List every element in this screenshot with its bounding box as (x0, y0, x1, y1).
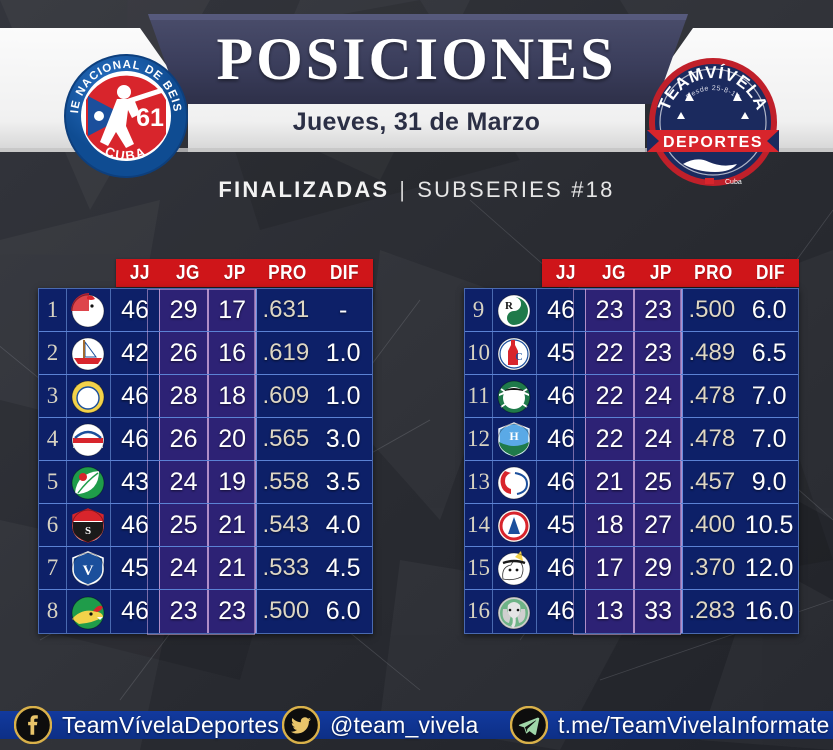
cell-pro: .609 (256, 375, 314, 417)
table-row[interactable]: 10 C 45 22 23 .489 6.5 (465, 332, 798, 375)
cell-jg: 23 (159, 590, 208, 633)
table-row[interactable]: 15 46 17 29 .370 12.0 (465, 547, 798, 590)
team-crest-cell: S (67, 504, 111, 546)
cell-pro: .500 (256, 590, 314, 633)
table-row[interactable]: 6 S 46 25 21 .543 4.0 (39, 504, 372, 547)
team-crest-cell (493, 547, 537, 589)
subseries-label: SUBSERIES #18 (417, 177, 614, 202)
status-label: FINALIZADAS (218, 177, 389, 202)
row-position: 4 (39, 418, 67, 460)
cell-jg: 29 (159, 289, 208, 331)
ciego-de-avila-logo (69, 593, 107, 631)
cell-jp: 18 (208, 375, 257, 417)
row-position: 7 (39, 547, 67, 589)
cell-jp: 24 (634, 418, 683, 460)
pinar-del-rio-logo (69, 463, 107, 501)
cienfuegos-logo: C (495, 334, 533, 372)
cell-jg: 21 (585, 461, 634, 503)
cell-pro: .478 (682, 418, 740, 460)
facebook-handle: TeamVívelaDeportes (62, 712, 279, 739)
cell-jp: 19 (208, 461, 257, 503)
cell-jg: 24 (159, 461, 208, 503)
cell-jj: 45 (537, 332, 585, 374)
cell-jp: 23 (634, 289, 683, 331)
social-link-telegram[interactable]: t.me/TeamVivelaInformate (510, 700, 830, 750)
cell-jg: 22 (585, 418, 634, 460)
svg-text:V: V (83, 563, 94, 579)
table-row[interactable]: 2 42 26 16 .619 1.0 (39, 332, 372, 375)
cell-jj: 46 (537, 289, 585, 331)
cell-jp: 16 (208, 332, 257, 374)
standings-grid-right: 9 R 46 23 23 .500 6.010 C (464, 288, 799, 634)
cell-dif: 4.5 (314, 547, 372, 589)
team-crest-cell (493, 504, 537, 546)
table-row[interactable]: 9 R 46 23 23 .500 6.0 (465, 289, 798, 332)
cell-jp: 17 (208, 289, 257, 331)
header: POSICIONES Jueves, 31 de Marzo 61 SERIE … (0, 0, 833, 165)
telegram-icon[interactable] (510, 706, 548, 744)
cell-dif: 7.0 (740, 375, 798, 417)
cell-jg: 22 (585, 375, 634, 417)
villa-clara-logo: V (69, 549, 107, 587)
cell-jp: 23 (634, 332, 683, 374)
cell-dif: 1.0 (314, 332, 372, 374)
cell-pro: .533 (256, 547, 314, 589)
svg-text:H: H (510, 429, 520, 443)
facebook-icon[interactable] (14, 706, 52, 744)
cell-jp: 21 (208, 547, 257, 589)
col-header-dif: DIF (746, 262, 795, 285)
subtitle-separator: | (399, 177, 407, 202)
serie-nacional-beisbol-logo: 61 SERIE NACIONAL DE BEISBOL CUBA (62, 52, 190, 180)
cell-pro: .558 (256, 461, 314, 503)
cell-dif: 7.0 (740, 418, 798, 460)
cell-dif: 9.0 (740, 461, 798, 503)
row-position: 6 (39, 504, 67, 546)
team-crest-cell (493, 590, 537, 633)
social-link-twitter[interactable]: @team_vivela (282, 700, 478, 750)
table-row[interactable]: 5 43 24 19 .558 3.5 (39, 461, 372, 504)
row-position: 14 (465, 504, 493, 546)
artemisa-logo: R (495, 291, 533, 329)
row-position: 5 (39, 461, 67, 503)
table-row[interactable]: 12 H 46 22 24 .478 7.0 (465, 418, 798, 461)
team-crest-cell (67, 332, 111, 374)
svg-text:R: R (505, 300, 514, 312)
svg-text:S: S (85, 525, 91, 537)
cell-jg: 25 (159, 504, 208, 546)
mayabeque-logo (495, 506, 533, 544)
col-header-jp: JP (641, 262, 682, 285)
matanzas-logo (69, 420, 107, 458)
cell-jj: 46 (111, 289, 159, 331)
row-position: 9 (465, 289, 493, 331)
cell-dif: 6.5 (740, 332, 798, 374)
logo-ribbon-label: DEPORTES (663, 134, 763, 151)
row-position: 3 (39, 375, 67, 417)
cell-pro: .619 (256, 332, 314, 374)
cell-dif: 6.0 (740, 289, 798, 331)
row-position: 12 (465, 418, 493, 460)
column-header-row-right: JJ JG JP PRO DIF (542, 259, 799, 287)
row-position: 2 (39, 332, 67, 374)
cell-jg: 23 (585, 289, 634, 331)
table-row[interactable]: 1 46 29 17 .631 - (39, 289, 372, 332)
cell-pro: .400 (682, 504, 740, 546)
row-position: 1 (39, 289, 67, 331)
team-crest-cell (67, 289, 111, 331)
col-header-jp: JP (215, 262, 256, 285)
standings-grid-left: 1 46 29 17 .631 -2 (38, 288, 373, 634)
row-position: 15 (465, 547, 493, 589)
cell-dif: - (314, 289, 372, 331)
twitter-handle: @team_vivela (330, 712, 478, 739)
santiago-de-cuba-logo: S (69, 506, 107, 544)
guantanamo-logo (495, 593, 533, 631)
cell-jj: 45 (537, 504, 585, 546)
cell-pro: .489 (682, 332, 740, 374)
cell-dif: 4.0 (314, 504, 372, 546)
col-header-jj: JJ (119, 262, 160, 285)
cell-pro: .370 (682, 547, 740, 589)
cell-jp: 24 (634, 375, 683, 417)
subtitle-bar: FINALIZADAS|SUBSERIES #18 (0, 177, 833, 203)
cell-jj: 46 (537, 547, 585, 589)
holguin-logo: H (495, 420, 533, 458)
cell-jg: 13 (585, 590, 634, 633)
col-header-jg: JG (167, 262, 208, 285)
team-crest-cell (493, 375, 537, 417)
table-row[interactable]: 7 V 45 24 21 .533 4.5 (39, 547, 372, 590)
cell-jg: 18 (585, 504, 634, 546)
cell-jp: 23 (208, 590, 257, 633)
row-position: 10 (465, 332, 493, 374)
cell-jj: 46 (111, 375, 159, 417)
cell-jj: 46 (537, 375, 585, 417)
col-header-jg: JG (593, 262, 634, 285)
table-row[interactable]: 16 46 13 33 .283 16.0 (465, 590, 798, 633)
social-footer: TeamVívelaDeportes @team_vivela t.me/Tea… (0, 700, 833, 750)
svg-text:C: C (516, 352, 523, 363)
cell-jj: 46 (111, 418, 159, 460)
cell-pro: .631 (256, 289, 314, 331)
cell-jp: 27 (634, 504, 683, 546)
cell-jg: 26 (159, 418, 208, 460)
team-crest-cell (67, 418, 111, 460)
col-header-pro: PRO (263, 262, 312, 285)
team-crest-cell (67, 375, 111, 417)
table-row[interactable]: 13 46 21 25 .457 9.0 (465, 461, 798, 504)
row-position: 16 (465, 590, 493, 633)
table-row[interactable]: 8 46 23 23 .500 6.0 (39, 590, 372, 633)
team-crest-cell: V (67, 547, 111, 589)
team-crest-cell (67, 461, 111, 503)
cell-jj: 46 (537, 590, 585, 633)
cell-pro: .478 (682, 375, 740, 417)
cell-dif: 3.5 (314, 461, 372, 503)
col-header-pro: PRO (689, 262, 738, 285)
camaguey-logo (495, 463, 533, 501)
cell-jj: 46 (111, 504, 159, 546)
col-header-dif: DIF (320, 262, 369, 285)
table-row[interactable]: 14 45 18 27 .400 10.5 (465, 504, 798, 547)
cell-jp: 21 (208, 504, 257, 546)
team-crest-cell (493, 461, 537, 503)
table-row[interactable]: 3 46 28 18 .609 1.0 (39, 375, 372, 418)
cell-dif: 10.5 (740, 504, 798, 546)
cell-jj: 46 (537, 461, 585, 503)
cell-jp: 20 (208, 418, 257, 460)
cell-jp: 29 (634, 547, 683, 589)
cell-jj: 43 (111, 461, 159, 503)
cell-jj: 45 (111, 547, 159, 589)
isla-de-la-juventud-logo (495, 377, 533, 415)
row-position: 13 (465, 461, 493, 503)
cell-jj: 42 (111, 332, 159, 374)
cell-jg: 22 (585, 332, 634, 374)
sancti-spiritus-logo (495, 549, 533, 587)
cell-dif: 1.0 (314, 375, 372, 417)
cell-pro: .543 (256, 504, 314, 546)
telegram-handle: t.me/TeamVivelaInformate (558, 712, 830, 739)
cell-jg: 28 (159, 375, 208, 417)
column-header-row-left: JJ JG JP PRO DIF (116, 259, 373, 287)
cell-pro: .457 (682, 461, 740, 503)
social-link-facebook[interactable]: TeamVívelaDeportes (14, 700, 279, 750)
cell-pro: .283 (682, 590, 740, 633)
cell-pro: .500 (682, 289, 740, 331)
industriales-logo (69, 291, 107, 329)
cell-dif: 12.0 (740, 547, 798, 589)
cell-dif: 6.0 (314, 590, 372, 633)
team-crest-cell (67, 590, 111, 633)
row-position: 11 (465, 375, 493, 417)
team-crest-cell: H (493, 418, 537, 460)
twitter-icon[interactable] (282, 706, 320, 744)
cell-pro: .565 (256, 418, 314, 460)
granma-logo (69, 334, 107, 372)
teamvivela-deportes-logo: TEAMVÍVELA Desde 25-8-18 DEPORTES Cuba (645, 52, 781, 188)
team-crest-cell: R (493, 289, 537, 331)
cell-jp: 33 (634, 590, 683, 633)
cell-dif: 3.0 (314, 418, 372, 460)
cell-dif: 16.0 (740, 590, 798, 633)
team-crest-cell: C (493, 332, 537, 374)
cell-jj: 46 (537, 418, 585, 460)
cell-jg: 24 (159, 547, 208, 589)
table-row[interactable]: 4 46 26 20 .565 3.0 (39, 418, 372, 461)
row-position: 8 (39, 590, 67, 633)
col-header-jj: JJ (545, 262, 586, 285)
cell-jg: 26 (159, 332, 208, 374)
svg-text:61: 61 (136, 104, 164, 132)
cell-jp: 25 (634, 461, 683, 503)
las-tunas-logo (69, 377, 107, 415)
cell-jj: 46 (111, 590, 159, 633)
table-row[interactable]: 11 46 22 24 .478 7.0 (465, 375, 798, 418)
cell-jg: 17 (585, 547, 634, 589)
